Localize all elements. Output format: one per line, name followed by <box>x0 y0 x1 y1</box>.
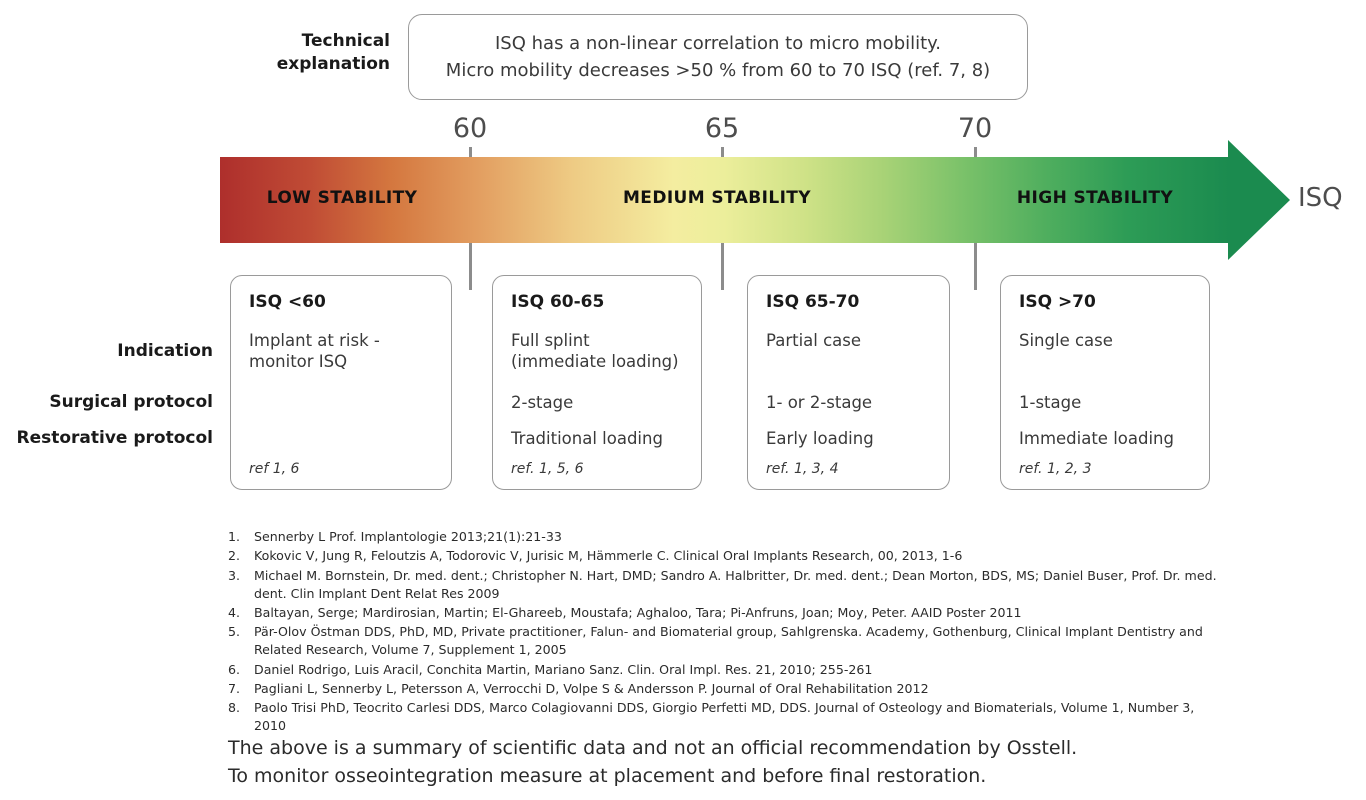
technical-explanation-box: ISQ has a non-linear correlation to micr… <box>408 14 1028 100</box>
reference-number: 1. <box>228 528 254 546</box>
card-indication: Single case <box>1019 331 1197 352</box>
card-restorative-protocol: Immediate loading <box>1019 429 1197 450</box>
reference-item: 1.Sennerby L Prof. Implantologie 2013;21… <box>228 528 1228 546</box>
reference-text: Michael M. Bornstein, Dr. med. dent.; Ch… <box>254 567 1228 603</box>
technical-explanation-line1: ISQ has a non-linear correlation to micr… <box>495 30 941 57</box>
arrow-head-icon <box>1228 140 1290 260</box>
isq-axis-label: ISQ <box>1298 183 1343 213</box>
row-label-indication: Indication <box>0 341 213 361</box>
technical-explanation-label-line1: Technical <box>210 30 390 53</box>
reference-number: 4. <box>228 604 254 622</box>
stability-label-medium-stability: MEDIUM STABILITY <box>487 188 947 208</box>
card-surgical-protocol: 2-stage <box>511 393 689 414</box>
reference-number: 6. <box>228 661 254 679</box>
reference-number: 7. <box>228 680 254 698</box>
row-label-restorative-protocol: Restorative protocol <box>0 428 213 448</box>
card-title: ISQ 65-70 <box>766 292 931 312</box>
card-reference: ref. 1, 3, 4 <box>766 461 838 477</box>
infographic-root: Technical explanation ISQ has a non-line… <box>0 0 1366 800</box>
card-restorative-protocol: Early loading <box>766 429 937 450</box>
reference-text: Paolo Trisi PhD, Teocrito Carlesi DDS, M… <box>254 699 1228 735</box>
card-restorative-protocol: Traditional loading <box>511 429 689 450</box>
reference-text: Sennerby L Prof. Implantologie 2013;21(1… <box>254 528 1228 546</box>
disclaimer-line2: To monitor osseointegration measure at p… <box>228 763 1077 791</box>
card-surgical-protocol: 1- or 2-stage <box>766 393 937 414</box>
disclaimer-line1: The above is a summary of scientific dat… <box>228 735 1077 763</box>
reference-number: 3. <box>228 567 254 585</box>
reference-number: 5. <box>228 623 254 641</box>
card-indication: Partial case <box>766 331 937 352</box>
card-indication: Implant at risk -monitor ISQ <box>249 331 439 372</box>
disclaimer: The above is a summary of scientific dat… <box>228 735 1077 790</box>
stability-card: ISQ 60-65Full splint(immediate loading)2… <box>492 275 702 490</box>
technical-explanation-label-line2: explanation <box>210 53 390 76</box>
reference-item: 2.Kokovic V, Jung R, Feloutzis A, Todoro… <box>228 547 1228 565</box>
card-reference: ref. 1, 2, 3 <box>1019 461 1091 477</box>
reference-item: 6.Daniel Rodrigo, Luis Aracil, Conchita … <box>228 661 1228 679</box>
reference-item: 7.Pagliani L, Sennerby L, Petersson A, V… <box>228 680 1228 698</box>
stability-label-low-stability: LOW STABILITY <box>228 188 456 208</box>
reference-item: 8.Paolo Trisi PhD, Teocrito Carlesi DDS,… <box>228 699 1228 735</box>
stability-gradient-arrow: LOW STABILITYMEDIUM STABILITYHIGH STABIL… <box>0 140 1366 260</box>
stability-card: ISQ 65-70Partial case1- or 2-stageEarly … <box>747 275 950 490</box>
reference-text: Kokovic V, Jung R, Feloutzis A, Todorovi… <box>254 547 1228 565</box>
stability-card: ISQ <60Implant at risk -monitor ISQref 1… <box>230 275 452 490</box>
reference-number: 2. <box>228 547 254 565</box>
card-surgical-protocol: 1-stage <box>1019 393 1197 414</box>
card-indication: Full splint(immediate loading) <box>511 331 689 372</box>
reference-item: 3.Michael M. Bornstein, Dr. med. dent.; … <box>228 567 1228 603</box>
reference-text: Daniel Rodrigo, Luis Aracil, Conchita Ma… <box>254 661 1228 679</box>
stability-card: ISQ >70Single case1-stageImmediate loadi… <box>1000 275 1210 490</box>
reference-text: Pagliani L, Sennerby L, Petersson A, Ver… <box>254 680 1228 698</box>
reference-text: Pär-Olov Östman DDS, PhD, MD, Private pr… <box>254 623 1228 659</box>
reference-item: 5.Pär-Olov Östman DDS, PhD, MD, Private … <box>228 623 1228 659</box>
technical-explanation-line2: Micro mobility decreases >50 % from 60 t… <box>446 57 990 84</box>
reference-list: 1.Sennerby L Prof. Implantologie 2013;21… <box>228 528 1228 737</box>
card-reference: ref 1, 6 <box>249 461 299 477</box>
row-label-surgical-protocol: Surgical protocol <box>0 392 213 412</box>
card-title: ISQ >70 <box>1019 292 1191 312</box>
reference-item: 4.Baltayan, Serge; Mardirosian, Martin; … <box>228 604 1228 622</box>
reference-text: Baltayan, Serge; Mardirosian, Martin; El… <box>254 604 1228 622</box>
card-title: ISQ <60 <box>249 292 433 312</box>
card-reference: ref. 1, 5, 6 <box>511 461 583 477</box>
card-title: ISQ 60-65 <box>511 292 683 312</box>
technical-explanation-label: Technical explanation <box>210 30 390 76</box>
reference-number: 8. <box>228 699 254 717</box>
stability-label-high-stability: HIGH STABILITY <box>995 188 1195 208</box>
